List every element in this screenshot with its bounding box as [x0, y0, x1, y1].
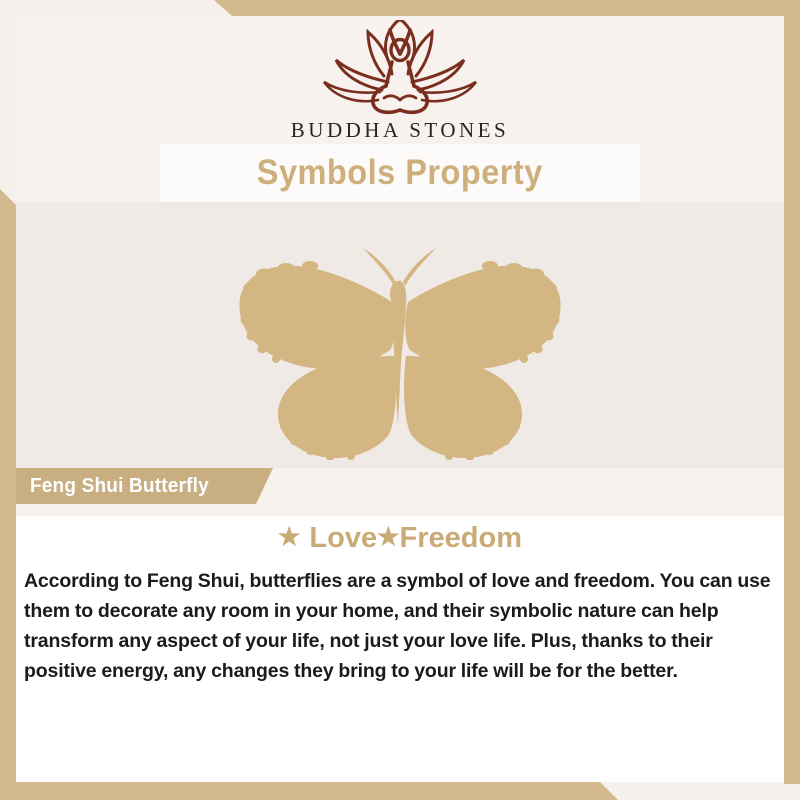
page-title: Symbols Property [257, 153, 543, 193]
lotus-meditation-icon [310, 20, 490, 116]
description-paragraph: According to Feng Shui, butterflies are … [24, 566, 774, 686]
promo-infographic: BUDDHA STONES Symbols Property [0, 0, 800, 800]
title-band: Symbols Property [160, 144, 640, 202]
feng-shui-label-slant [256, 468, 273, 504]
feng-shui-label-text: Feng Shui Butterfly [30, 475, 209, 498]
star-icon-left: ★ [278, 525, 300, 550]
frame-left-notch [0, 189, 16, 205]
brand-name: BUDDHA STONES [291, 118, 509, 143]
description-card: ★ Love ★ Freedom According to Feng Shui,… [16, 504, 784, 782]
content-area: BUDDHA STONES Symbols Property [16, 16, 784, 782]
frame-top-bar [232, 0, 800, 16]
tagline: ★ Love ★ Freedom [16, 518, 784, 558]
tagline-word-freedom: Freedom [400, 522, 522, 555]
frame-left-bar [0, 205, 16, 800]
tagline-word-love: Love [309, 522, 377, 555]
butterfly-icon [220, 210, 580, 460]
frame-top-notch [214, 0, 232, 16]
brand-header: BUDDHA STONES [16, 20, 784, 146]
star-icon-middle: ★ [377, 525, 399, 550]
hero-image-area [16, 202, 784, 468]
feng-shui-label-banner: Feng Shui Butterfly [16, 468, 256, 504]
frame-right-bar [784, 0, 800, 784]
frame-bottom-bar [0, 782, 600, 800]
card-top-gap [16, 504, 784, 516]
frame-bottom-notch [600, 782, 618, 800]
